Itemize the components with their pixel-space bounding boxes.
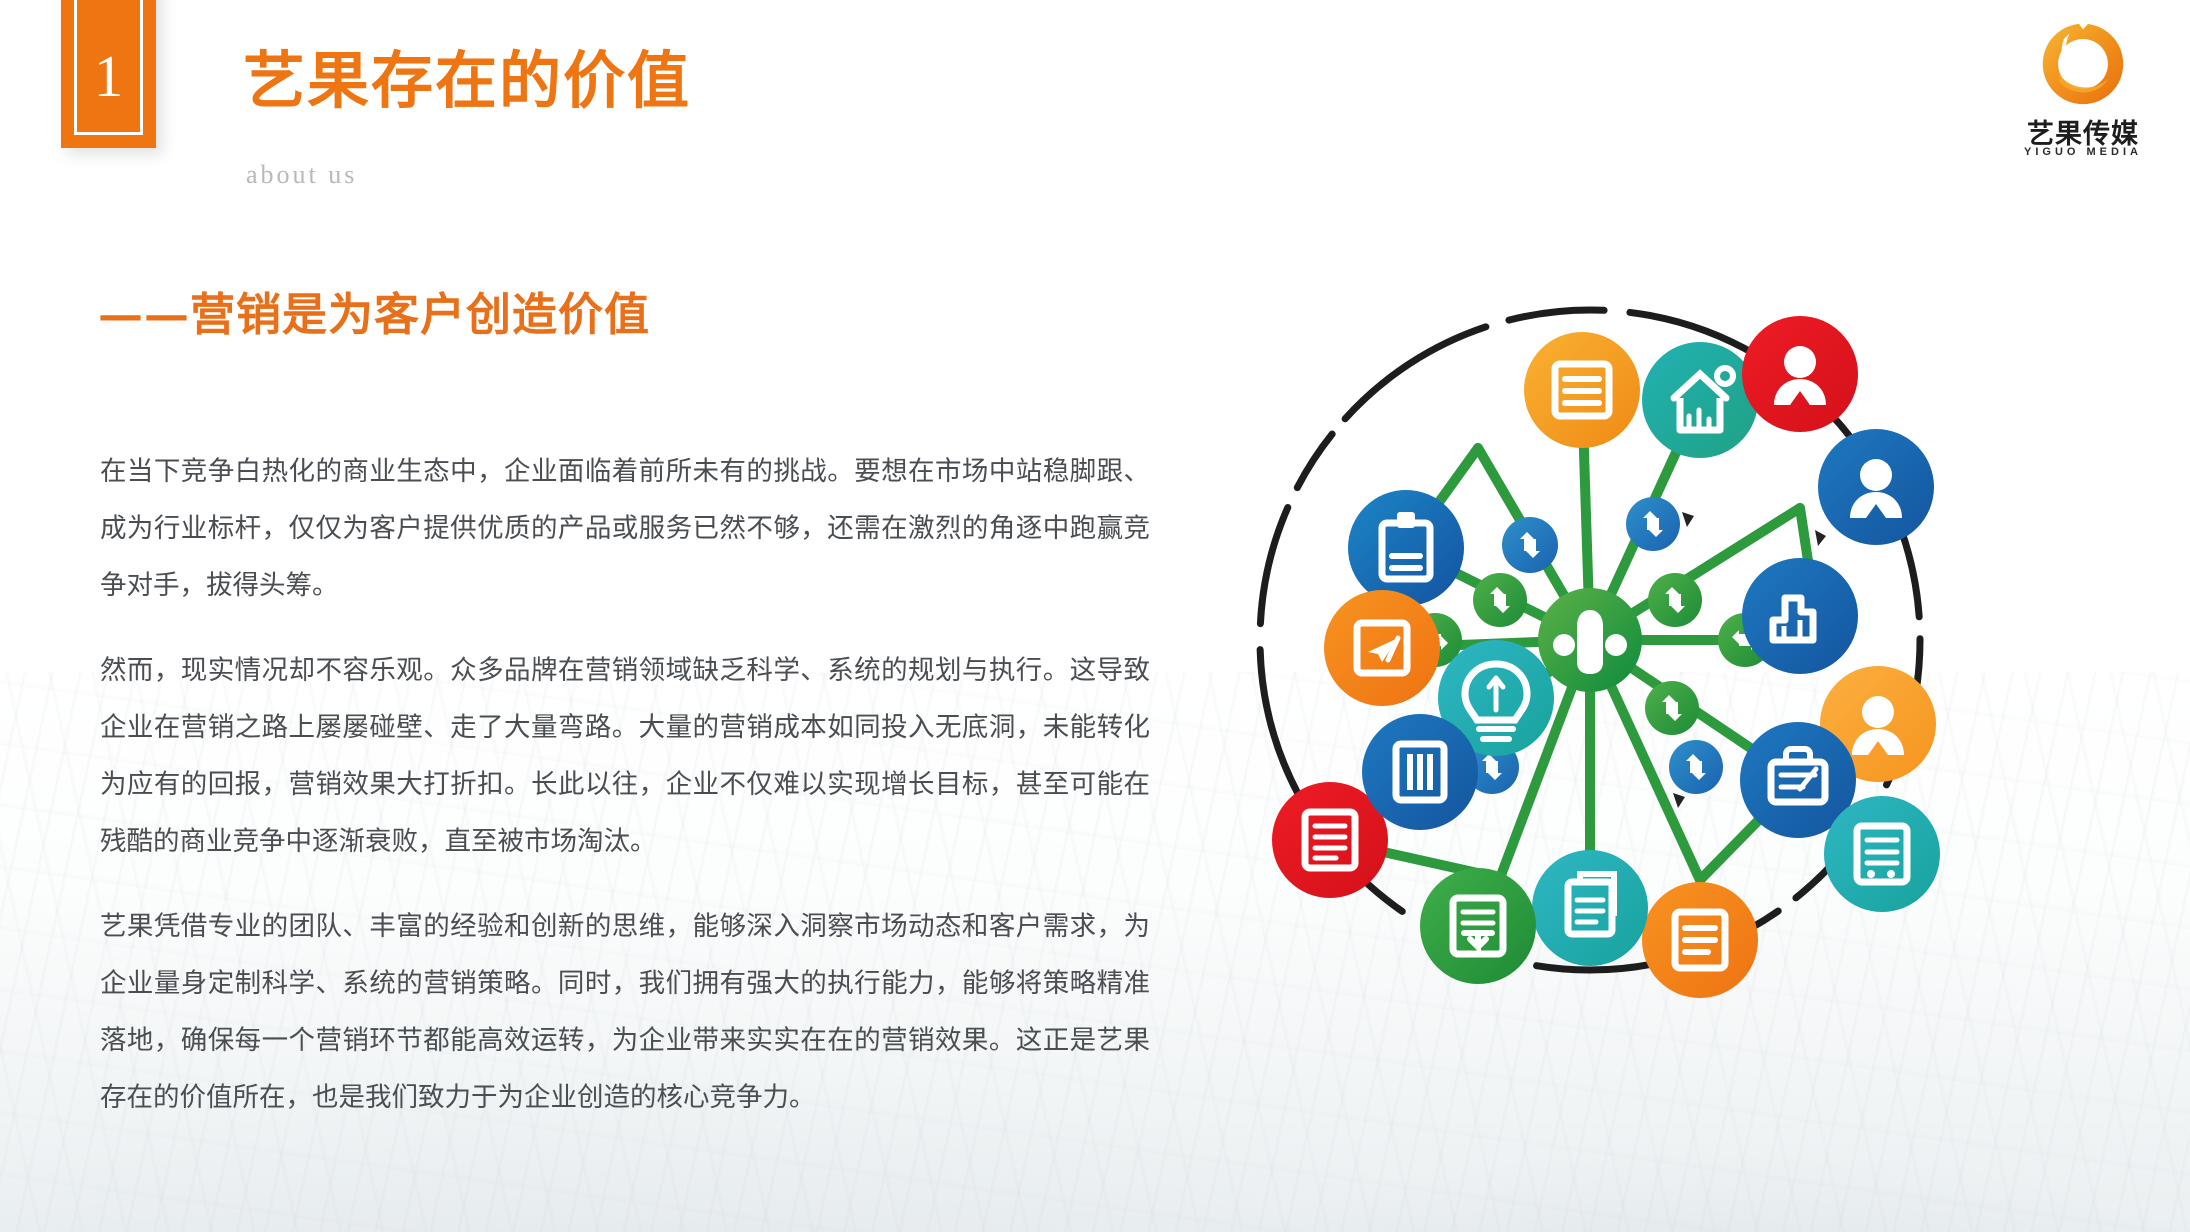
- node-file-copy-icon: [1532, 850, 1648, 966]
- node-columns-icon: [1362, 714, 1478, 830]
- network-hub-infographic: [1230, 280, 1950, 1000]
- paragraph-2: 然而，现实情况却不容乐观。众多品牌在营销领域缺乏科学、系统的规划与执行。这导致企…: [100, 642, 1150, 870]
- node-send-arrow-icon: [1324, 590, 1440, 706]
- node-bar-chart-icon: [1742, 558, 1858, 674]
- paragraph-3: 艺果凭借专业的团队、丰富的经验和创新的思维，能够深入洞察市场动态和客户需求，为企…: [100, 898, 1150, 1126]
- node-home-chart-icon: [1642, 342, 1758, 458]
- page-subtitle: about us: [246, 160, 357, 190]
- node-document-orange-icon: [1642, 882, 1758, 998]
- slide-background: 1 艺果存在的价值 about us 艺果传媒 YIGUO MEDIA: [0, 0, 2190, 1232]
- body-copy: 在当下竞争白热化的商业生态中，企业面临着前所未有的挑战。要想在市场中站稳脚跟、成…: [100, 443, 1150, 1126]
- section-lead: ——营销是为客户创造价值: [98, 292, 650, 337]
- section-number-badge: 1: [61, 0, 156, 148]
- brand-logo: 艺果传媒 YIGUO MEDIA: [1998, 16, 2168, 158]
- page-title: 艺果存在的价值: [243, 50, 691, 112]
- node-server-icon: [1824, 796, 1940, 912]
- section-number: 1: [61, 47, 156, 106]
- logo-name-en: YIGUO MEDIA: [1998, 146, 2168, 158]
- node-checklist-icon: [1420, 868, 1536, 984]
- orange-fruit-ring-icon: [2034, 16, 2132, 108]
- node-person-pin-red-icon: [1742, 316, 1858, 432]
- node-person-pin-blue-icon: [1818, 429, 1934, 545]
- node-clipboard-icon: [1348, 490, 1464, 606]
- node-document-lines-icon: [1524, 332, 1640, 448]
- paragraph-1: 在当下竞争白热化的商业生态中，企业面临着前所未有的挑战。要想在市场中站稳脚跟、成…: [100, 443, 1150, 614]
- hub-node-icon: [1538, 588, 1642, 692]
